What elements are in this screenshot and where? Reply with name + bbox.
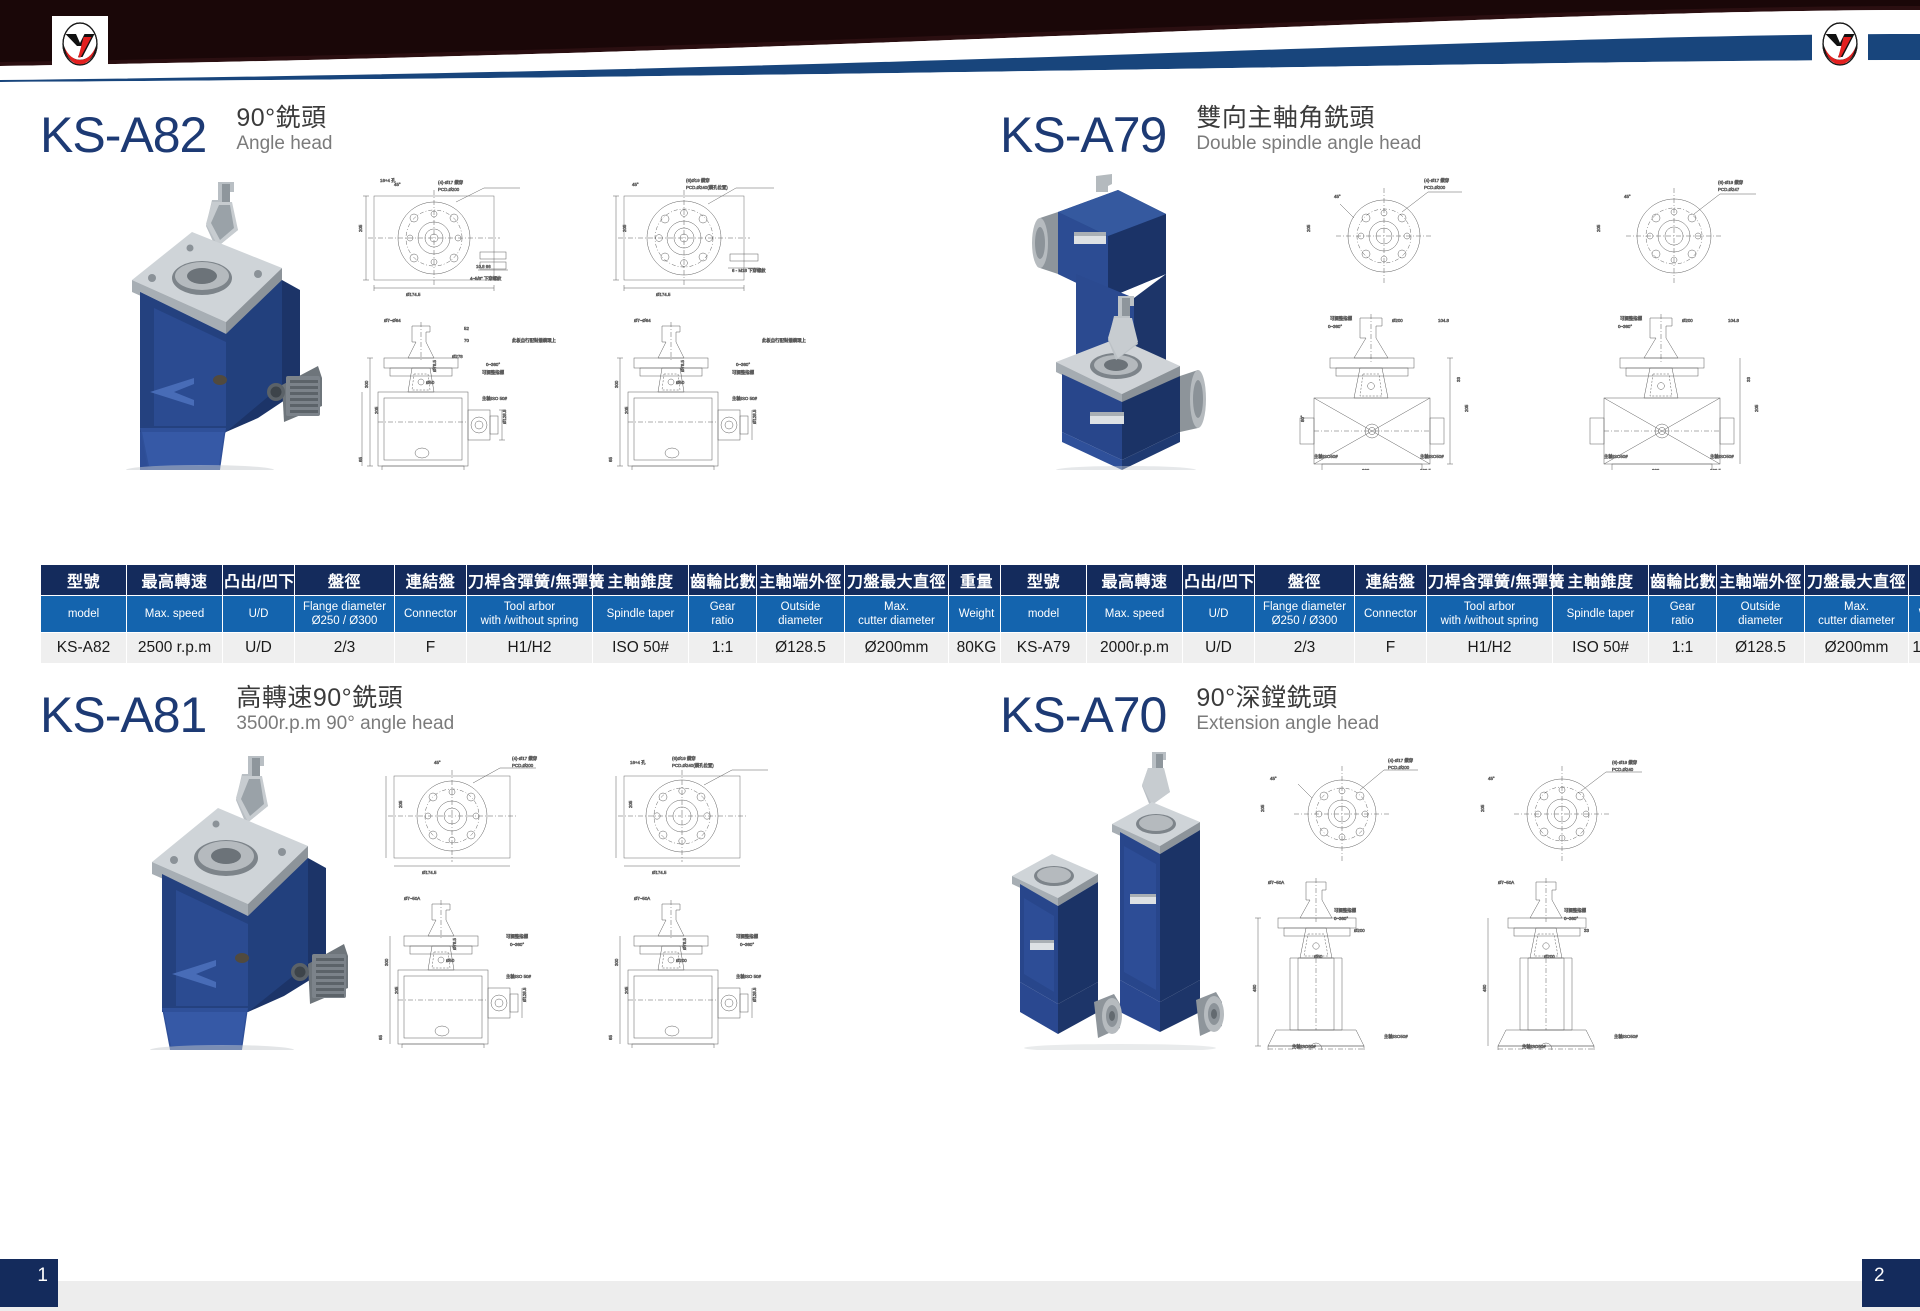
svg-text:45°: 45° [1624,194,1631,199]
cell-flange: 2/3 [295,633,395,664]
svg-text:205: 205 [1596,224,1601,232]
svg-text:10.8 66: 10.8 66 [476,264,491,269]
svg-text:此板自行配對攜鎖環上: 此板自行配對攜鎖環上 [762,337,807,344]
svg-text:主軸ISO50#: 主軸ISO50# [1522,1043,1546,1050]
cell-outside-dia: Ø128.5 [757,633,845,664]
product-block-ks-a82: KS-A82 90°銑頭 Angle head [40,98,960,470]
cell-cutter-dia: Ø200mm [1805,633,1909,664]
svg-text:可調整指標: 可調整指標 [732,369,755,376]
cell-ud: U/D [1183,633,1255,664]
svg-text:0~360°: 0~360° [740,942,754,947]
th-en-connector: Connector [395,596,467,633]
th-cn-gear-ratio: 齒輪比數 [689,565,757,596]
th-cn-tool-arbor: 刀桿含彈簧/無彈簧 [1427,565,1553,596]
svg-text:0~360°: 0~360° [1564,916,1578,921]
svg-text:可調整指標: 可調整指標 [1564,907,1587,914]
svg-text:480: 480 [1482,984,1487,992]
svg-text:33: 33 [1456,377,1461,382]
svg-text:300: 300 [364,380,369,388]
svg-text:PCD.Ø240: PCD.Ø240 [1612,767,1634,772]
svg-text:300: 300 [614,958,619,966]
page-header-banner [0,0,1920,82]
th-cn-max-speed: 最高轉速 [1087,565,1183,596]
th-en-ud: U/D [223,596,295,633]
th-cn-outside-dia: 主軸端外徑 [757,565,845,596]
spec-table-ks-a82: 型號 最高轉速 凸出/凹下 盤徑 連結盤 刀桿含彈簧/無彈簧 主軸錐度 齒輪比數… [40,564,1005,664]
angle-head-photo [70,170,330,470]
th-cn-connector: 連結盤 [395,565,467,596]
product-heading: KS-A81 高轉速90°銑頭 3500r.p.m 90° angle head [40,678,960,740]
svg-text:Ø7~50A: Ø7~50A [634,896,650,901]
page-number-right: 2 [1862,1259,1920,1307]
svg-text:主軸ISO50#: 主軸ISO50# [1384,1033,1408,1040]
svg-text:Ø7~50A: Ø7~50A [1498,880,1514,885]
svg-text:205: 205 [1260,804,1265,812]
svg-text:此板自行配對攜鎖環上: 此板自行配對攜鎖環上 [512,337,557,344]
th-cn-gear-ratio: 齒輪比數 [1649,565,1717,596]
th-en-gear-ratio: Gearratio [1649,596,1717,633]
cell-spindle-taper: ISO 50# [1553,633,1649,664]
page-footer: 1 2 [0,1259,1920,1311]
svg-text:PCD.Ø240(鑽孔位置): PCD.Ø240(鑽孔位置) [686,184,728,191]
th-cn-tool-arbor: 刀桿含彈簧/無彈簧 [467,565,593,596]
product-name-cn: 90°銑頭 [236,104,332,132]
th-en-tool-arbor: Tool arborwith /without spring [467,596,593,633]
th-en-ud: U/D [1183,596,1255,633]
svg-text:160.5: 160.5 [1420,468,1432,470]
cell-flange: 2/3 [1255,633,1355,664]
svg-text:0~360°: 0~360° [1334,916,1348,921]
technical-drawing: (4)-Ø17 鑽穿 PCD.Ø200 45° 205 Ø174.5 [360,750,960,1048]
svg-text:360: 360 [1362,468,1370,470]
catalog-page: KS-A82 90°銑頭 Angle head [0,0,1920,1311]
th-cn-weight: 重量 [1909,565,1920,596]
svg-text:主軸ISO 50#: 主軸ISO 50# [732,395,757,402]
product-name-en: Extension angle head [1196,713,1379,736]
svg-text:主軸ISO50#: 主軸ISO50# [1292,1043,1316,1050]
cell-outside-dia: Ø128.5 [1717,633,1805,664]
svg-text:Ø128.5: Ø128.5 [502,409,507,424]
product-heading: KS-A79 雙向主軸角銑頭 Double spindle angle head [1000,98,1920,160]
th-en-weight: Weight [949,596,1005,633]
cell-gear-ratio: 1:1 [1649,633,1717,664]
th-en-spindle-taper: Spindle taper [1553,596,1649,633]
spec-header-cn: 型號 最高轉速 凸出/凹下 盤徑 連結盤 刀桿含彈簧/無彈簧 主軸錐度 齒輪比數… [1001,565,1920,596]
cell-model: KS-A79 [1001,633,1087,664]
th-en-outside-dia: Outsidediameter [757,596,845,633]
product-block-ks-a70: KS-A70 90°深鏜銑頭 Extension angle head [1000,678,1920,1050]
th-en-cutter-dia: Max.cutter diameter [1805,596,1909,633]
svg-text:205: 205 [358,224,363,232]
product-block-ks-a79: KS-A79 雙向主軸角銑頭 Double spindle angle head [1000,98,1920,470]
company-logo-right [1812,16,1868,72]
svg-text:主軸ISO50#: 主軸ISO50# [1604,453,1628,460]
svg-text:6 - M18 下穿螺紋: 6 - M18 下穿螺紋 [732,267,766,274]
svg-text:Ø50: Ø50 [676,380,685,385]
svg-text:16+4 孔: 16+4 孔 [380,177,396,184]
th-cn-ud: 凸出/凹下 [1183,565,1255,596]
th-cn-cutter-dia: 刀盤最大直徑 [845,565,949,596]
th-cn-spindle-taper: 主軸錐度 [1553,565,1649,596]
th-en-tool-arbor: Tool arborwith /without spring [1427,596,1553,633]
extension-angle-head-photo [1000,750,1240,1050]
th-en-flange: Flange diameterØ250 / Ø300 [1255,596,1355,633]
th-cn-ud: 凸出/凹下 [223,565,295,596]
svg-text:(6)Ø19 鑽穿: (6)Ø19 鑽穿 [686,177,710,184]
svg-text:Ø50: Ø50 [446,958,455,963]
cell-weight: 80KG [949,633,1005,664]
product-code: KS-A70 [1000,690,1166,740]
svg-text:45°: 45° [1334,194,1341,199]
svg-text:主軸ISO 50#: 主軸ISO 50# [506,973,531,980]
svg-text:480: 480 [1252,984,1257,992]
page-number-left-value: 1 [37,1265,48,1287]
cell-tool-arbor: H1/H2 [1427,633,1553,664]
svg-text:205: 205 [398,800,403,808]
svg-text:0~360°: 0~360° [1328,324,1342,329]
svg-text:160.5: 160.5 [1710,468,1722,470]
cell-connector: F [395,633,467,664]
svg-text:主軸ISO50#: 主軸ISO50# [1314,453,1338,460]
svg-text:Ø7~Ø64: Ø7~Ø64 [384,318,401,323]
svg-text:65: 65 [608,1035,613,1040]
svg-text:205: 205 [1754,404,1759,412]
cell-max-speed: 2000r.p.m [1087,633,1183,664]
technical-drawing: (4)-Ø17 鑽穿 PCD.Ø200 45° 205 [1270,172,1920,470]
product-name-en: Angle head [236,133,332,156]
product-name-en: Double spindle angle head [1196,133,1421,156]
technical-drawing: (4)-Ø17 鑽穿 PCD.Ø200 45° 16+4 孔 205 Ø174.… [340,172,960,470]
svg-text:4~5/8" 下穿螺紋: 4~5/8" 下穿螺紋 [470,275,502,282]
svg-text:33: 33 [1746,377,1751,382]
product-figure: (4)-Ø17 鑽穿 PCD.Ø200 45° 205 [1000,750,1920,1050]
svg-text:主軸ISO 50#: 主軸ISO 50# [736,973,761,980]
svg-text:可調整指標: 可調整指標 [506,933,529,940]
svg-text:PCD.Ø200: PCD.Ø200 [1388,765,1410,770]
high-speed-angle-head-photo [100,750,350,1050]
svg-text:PCD.Ø200: PCD.Ø200 [438,187,460,192]
spec-header-en: model Max. speed U/D Flange diameterØ250… [41,596,1005,633]
svg-text:Ø200: Ø200 [676,958,687,963]
svg-text:PCD.Ø200: PCD.Ø200 [512,763,534,768]
product-heading: KS-A70 90°深鏜銑頭 Extension angle head [1000,678,1920,740]
svg-text:Ø78.5: Ø78.5 [452,937,457,950]
svg-text:65: 65 [608,457,613,462]
th-en-max-speed: Max. speed [127,596,223,633]
svg-text:Ø128.5: Ø128.5 [752,409,757,424]
product-figure: (4)-Ø17 鑽穿 PCD.Ø200 45° 205 [1000,170,1920,470]
svg-text:Ø174.5: Ø174.5 [656,292,671,297]
svg-text:205: 205 [1306,224,1311,232]
th-en-weight: Weight [1909,596,1920,633]
product-figure: (4)-Ø17 鑽穿 PCD.Ø200 45° 16+4 孔 205 Ø174.… [40,170,960,470]
cell-weight: 100KG [1909,633,1920,664]
svg-text:65: 65 [378,1035,383,1040]
svg-text:Ø78.5: Ø78.5 [680,359,685,372]
svg-text:可調整指標: 可調整指標 [1620,315,1643,322]
svg-text:可調整指標: 可調整指標 [482,369,505,376]
technical-drawing: (4)-Ø17 鑽穿 PCD.Ø200 45° 205 [1230,752,1920,1050]
svg-text:主軸ISO50#: 主軸ISO50# [1614,1033,1638,1040]
svg-text:52: 52 [464,326,469,331]
svg-text:33: 33 [1584,928,1589,933]
svg-text:45°: 45° [1488,776,1495,781]
cell-spindle-taper: ISO 50# [593,633,689,664]
product-code: KS-A81 [40,690,206,740]
product-heading: KS-A82 90°銑頭 Angle head [40,98,960,160]
spec-table-ks-a79: 型號 最高轉速 凸出/凹下 盤徑 連結盤 刀桿含彈簧/無彈簧 主軸錐度 齒輪比數… [1000,564,1920,664]
svg-text:(4)-Ø17 鑽穿: (4)-Ø17 鑽穿 [1424,177,1450,184]
svg-text:主軸ISO50#: 主軸ISO50# [1420,453,1444,460]
svg-text:Ø174.5: Ø174.5 [652,870,667,875]
th-cn-max-speed: 最高轉速 [127,565,223,596]
svg-text:205: 205 [374,406,379,414]
svg-text:可調整指標: 可調整指標 [1330,315,1353,322]
svg-text:Ø50: Ø50 [1314,954,1323,959]
company-logo-left [52,16,108,72]
svg-text:Ø174.5: Ø174.5 [406,292,421,297]
product-code: KS-A82 [40,110,206,160]
th-cn-model: 型號 [41,565,127,596]
svg-text:360: 360 [1652,468,1660,470]
cell-tool-arbor: H1/H2 [467,633,593,664]
cell-max-speed: 2500 r.p.m [127,633,223,664]
table-row: KS-A82 2500 r.p.m U/D 2/3 F H1/H2 ISO 50… [41,633,1005,664]
svg-text:Ø7~50A: Ø7~50A [1268,880,1284,885]
th-cn-connector: 連結盤 [1355,565,1427,596]
svg-text:Ø128.5: Ø128.5 [752,987,757,1002]
svg-text:(4)-Ø17 鑽穿: (4)-Ø17 鑽穿 [512,755,538,762]
cell-model: KS-A82 [41,633,127,664]
svg-text:300: 300 [614,380,619,388]
svg-text:45°: 45° [434,760,441,765]
svg-text:Ø200: Ø200 [1354,928,1365,933]
svg-text:主軸ISO 50#: 主軸ISO 50# [482,395,507,402]
double-spindle-angle-head-photo [1000,170,1240,470]
svg-text:205: 205 [624,406,629,414]
product-name-en: 3500r.p.m 90° angle head [236,713,454,736]
svg-text:Ø200: Ø200 [1544,954,1555,959]
cell-cutter-dia: Ø200mm [845,633,949,664]
spec-header-en: model Max. speed U/D Flange diameterØ250… [1001,596,1920,633]
svg-text:205: 205 [628,800,633,808]
cell-gear-ratio: 1:1 [689,633,757,664]
svg-text:Ø278: Ø278 [452,354,463,359]
th-cn-flange: 盤徑 [1255,565,1355,596]
svg-text:104.8: 104.8 [1728,318,1740,323]
svg-text:PCD.Ø247: PCD.Ø247 [1718,187,1740,192]
svg-text:(6)Ø19 鑽穿: (6)Ø19 鑽穿 [672,755,696,762]
th-en-connector: Connector [1355,596,1427,633]
th-en-flange: Flange diameterØ250 / Ø300 [295,596,395,633]
svg-text:104.8: 104.8 [1438,318,1450,323]
page-number-left: 1 [0,1259,58,1307]
product-name-cn: 高轉速90°銑頭 [236,684,454,712]
svg-text:(4)-Ø17 鑽穿: (4)-Ø17 鑽穿 [1388,757,1414,764]
svg-text:205: 205 [624,986,629,994]
svg-text:16+4 孔: 16+4 孔 [630,759,646,766]
svg-text:205: 205 [622,224,627,232]
cell-connector: F [1355,633,1427,664]
th-cn-spindle-taper: 主軸錐度 [593,565,689,596]
spec-header-cn: 型號 最高轉速 凸出/凹下 盤徑 連結盤 刀桿含彈簧/無彈簧 主軸錐度 齒輪比數… [41,565,1005,596]
svg-text:0~360°: 0~360° [1618,324,1632,329]
th-cn-outside-dia: 主軸端外徑 [1717,565,1805,596]
th-en-model: model [1001,596,1087,633]
th-cn-weight: 重量 [949,565,1005,596]
svg-text:Ø200: Ø200 [1682,318,1693,323]
page-number-right-value: 2 [1874,1265,1885,1287]
svg-text:0~360°: 0~360° [510,942,524,947]
svg-text:45°: 45° [632,182,639,187]
footer-bar [0,1281,1920,1311]
th-en-cutter-dia: Max.cutter diameter [845,596,949,633]
svg-text:Ø78.5: Ø78.5 [432,359,437,372]
svg-text:可調整指標: 可調整指標 [736,933,759,940]
svg-text:Ø7~Ø64: Ø7~Ø64 [634,318,651,323]
svg-text:可調整指標: 可調整指標 [1334,907,1357,914]
svg-text:Ø174.5: Ø174.5 [422,870,437,875]
svg-text:(4)-Ø17 鑽穿: (4)-Ø17 鑽穿 [438,179,464,186]
svg-text:80°: 80° [1300,415,1305,422]
svg-text:0~360°: 0~360° [736,362,750,367]
th-cn-flange: 盤徑 [295,565,395,596]
product-code: KS-A79 [1000,110,1166,160]
svg-text:0~360°: 0~360° [486,362,500,367]
product-name-cn: 90°深鏜銑頭 [1196,684,1379,712]
svg-text:PCD.Ø240(鑽孔位置): PCD.Ø240(鑽孔位置) [672,762,714,769]
svg-text:Ø7~50A: Ø7~50A [404,896,420,901]
product-name-cn: 雙向主軸角銑頭 [1196,104,1421,132]
th-en-spindle-taper: Spindle taper [593,596,689,633]
th-en-model: model [41,596,127,633]
product-figure: (4)-Ø17 鑽穿 PCD.Ø200 45° 205 Ø174.5 [40,750,960,1050]
svg-text:45°: 45° [1270,776,1277,781]
th-en-outside-dia: Outsidediameter [1717,596,1805,633]
table-row: KS-A79 2000r.p.m U/D 2/3 F H1/H2 ISO 50#… [1001,633,1920,664]
th-en-gear-ratio: Gearratio [689,596,757,633]
th-cn-model: 型號 [1001,565,1087,596]
svg-text:PCD.Ø200: PCD.Ø200 [1424,185,1446,190]
svg-text:205: 205 [1480,804,1485,812]
th-en-max-speed: Max. speed [1087,596,1183,633]
svg-text:70: 70 [464,338,469,343]
svg-text:65: 65 [358,457,363,462]
cell-ud: U/D [223,633,295,664]
svg-text:Ø200: Ø200 [1392,318,1403,323]
th-cn-cutter-dia: 刀盤最大直徑 [1805,565,1909,596]
svg-text:Ø128.5: Ø128.5 [522,987,527,1002]
svg-text:Ø50: Ø50 [426,380,435,385]
svg-text:300: 300 [384,958,389,966]
svg-text:(6)-Ø19 鑽穿: (6)-Ø19 鑽穿 [1612,759,1638,766]
product-block-ks-a81: KS-A81 高轉速90°銑頭 3500r.p.m 90° angle head [40,678,960,1050]
svg-text:(6)-Ø19 鑽穿: (6)-Ø19 鑽穿 [1718,179,1744,186]
svg-text:205: 205 [394,986,399,994]
svg-text:Ø78.5: Ø78.5 [682,937,687,950]
svg-text:主軸ISO50#: 主軸ISO50# [1710,453,1734,460]
svg-text:205: 205 [1464,404,1469,412]
